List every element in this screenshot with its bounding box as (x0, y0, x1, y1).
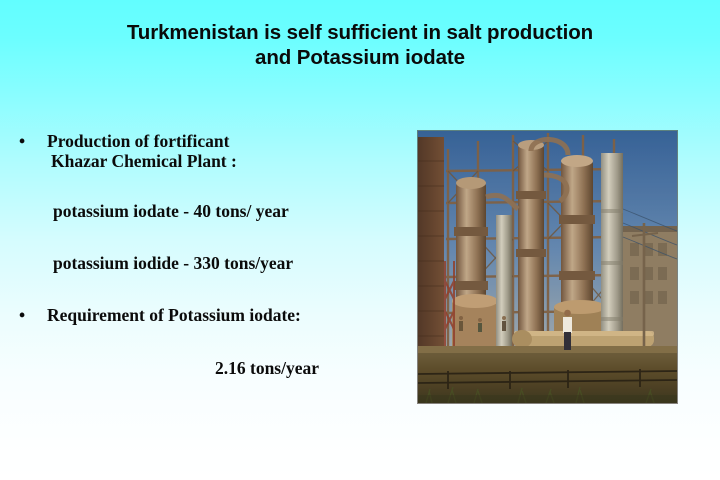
plant-photo (418, 131, 677, 403)
list-item-label: potassium iodate - 40 tons/ year (53, 201, 289, 221)
requirement-value-label: 2.16 tons/year (215, 358, 319, 378)
slide-canvas: Turkmenistan is self sufficient in salt … (0, 0, 720, 480)
plant-photo-image (418, 131, 677, 403)
spacer (0, 273, 412, 305)
list-item-label: Requirement of Potassium iodate: (47, 305, 301, 325)
requirement-value: 2.16 tons/year (0, 358, 412, 378)
list-item-label: potassium iodide - 330 tons/year (53, 253, 293, 273)
list-item-label: Khazar Chemical Plant : (51, 151, 237, 171)
page-title: Turkmenistan is self sufficient in salt … (40, 20, 680, 70)
title-line-1: Turkmenistan is self sufficient in salt … (40, 20, 680, 45)
body-content: • Production of fortificant Khazar Chemi… (0, 131, 412, 378)
list-item-continuation: Khazar Chemical Plant : (0, 151, 412, 171)
list-item: • Requirement of Potassium iodate: (0, 305, 412, 325)
bullet-icon: • (19, 305, 25, 325)
spacer (0, 221, 412, 253)
title-line-2: and Potassium iodate (40, 45, 680, 70)
spacer (0, 325, 412, 358)
list-item: • Production of fortificant (0, 131, 412, 151)
spacer (0, 171, 412, 201)
bullet-icon: • (19, 131, 25, 151)
list-item-label: Production of fortificant (47, 131, 229, 151)
list-item-sub: potassium iodate - 40 tons/ year (0, 201, 412, 221)
list-item-sub: potassium iodide - 330 tons/year (0, 253, 412, 273)
